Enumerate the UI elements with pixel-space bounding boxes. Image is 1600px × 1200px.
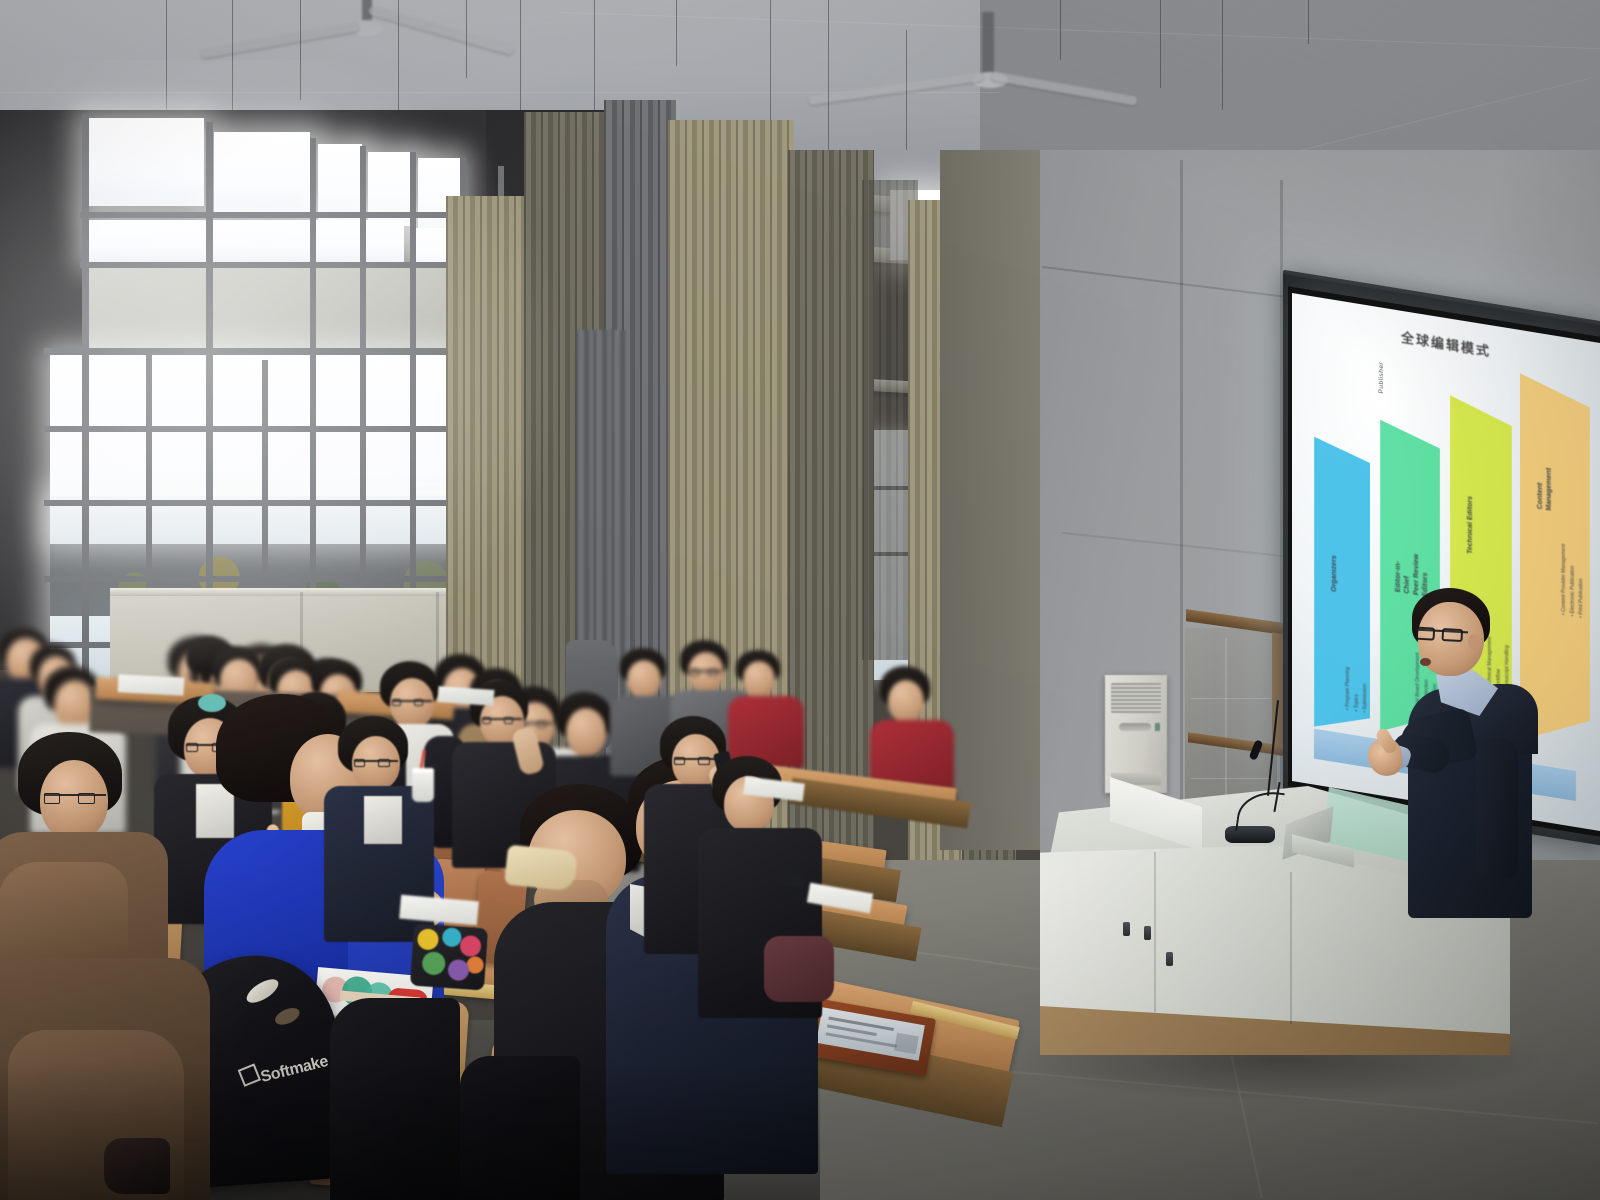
lectern-lock <box>1166 952 1173 966</box>
window-pane <box>318 144 362 222</box>
lecture-hall-photo: 全球编辑模式 Publisher Organizers • Program Pl… <box>0 0 1600 1200</box>
presenter-mouth <box>1420 658 1431 666</box>
ceiling-panel-seam <box>0 92 1000 93</box>
slide-publisher-label: Publisher <box>1378 361 1385 394</box>
window-pane <box>84 118 204 206</box>
slide-column-organizers: Organizers • Program Planning • Topics •… <box>1314 437 1370 736</box>
air-conditioner-unit <box>1105 675 1167 793</box>
lectern-panel-seam <box>1154 852 1156 1012</box>
slide-column-label: Organizers <box>1330 555 1339 593</box>
paper-cup <box>412 768 434 802</box>
backpack-highlight <box>243 975 282 1008</box>
foreground-object <box>104 1138 170 1194</box>
eyeglasses-icon <box>1416 629 1468 634</box>
paper-sheet <box>118 674 185 695</box>
lectern-lock <box>1144 926 1151 940</box>
presenter-ear <box>1468 634 1480 650</box>
lectern-lock <box>1123 922 1130 936</box>
slide-column-label: Content Management <box>1536 466 1554 512</box>
backpack-zip <box>273 1005 302 1028</box>
presenter-figure <box>1390 588 1540 918</box>
slide-column-label: Technical Editors <box>1466 495 1475 554</box>
slide-column-bullets: • Content Provider Management • Electron… <box>1560 543 1586 618</box>
audience-shirt <box>364 796 402 844</box>
patterned-bag <box>410 923 488 990</box>
audience-fur-collar <box>0 862 128 970</box>
window-pane <box>214 132 310 216</box>
foreground-shoulder <box>330 998 460 1200</box>
hair-tie <box>198 694 226 712</box>
cloth-bag <box>504 844 578 891</box>
audience-trousers <box>764 936 834 1002</box>
backpack-brand-text: Softmake <box>259 1053 330 1087</box>
backpack-logo-mark <box>238 1063 261 1086</box>
lectern-panel-seam <box>1290 872 1292 1024</box>
foreground-shoulder <box>460 1056 580 1200</box>
slide-column-bullets: • Program Planning • Topics • Submission… <box>1344 664 1370 718</box>
window-pane <box>86 220 404 262</box>
presenter-far-arm <box>1476 738 1518 878</box>
plaque-glass <box>816 1007 925 1061</box>
